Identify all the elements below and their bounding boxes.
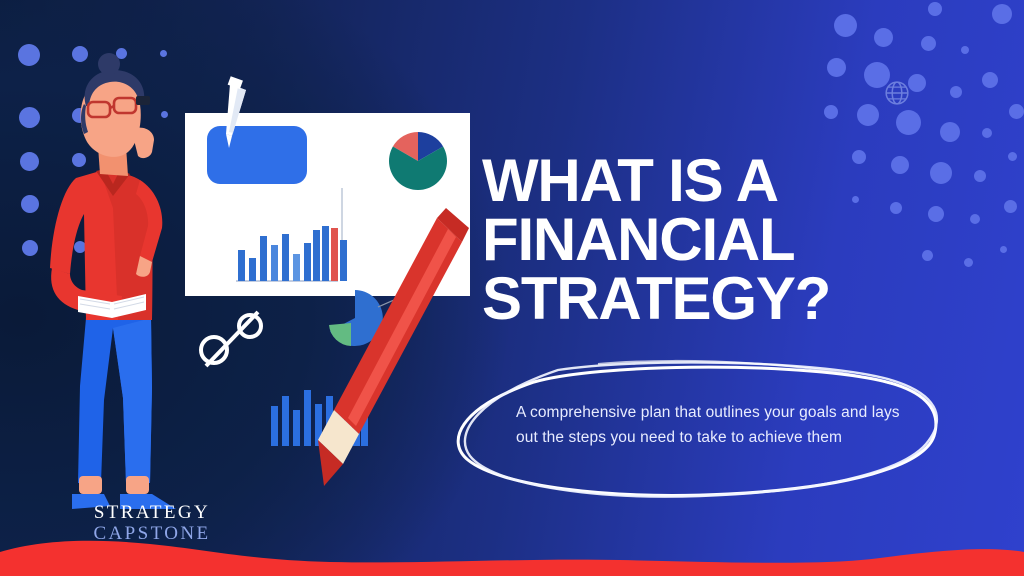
financial-strategy-illustration — [0, 28, 470, 548]
subtitle-text: A comprehensive plan that outlines your … — [516, 400, 906, 450]
person-illustration — [50, 53, 176, 509]
board-pie-chart-top — [389, 132, 447, 190]
title-line-1: WHAT IS A — [482, 152, 982, 211]
title-line-2: FINANCIAL — [482, 211, 982, 270]
bottom-red-wave — [0, 532, 1024, 576]
logo-line-strategy: STRATEGY — [62, 503, 242, 523]
percent-symbol — [201, 312, 261, 366]
globe-icon — [884, 80, 910, 106]
title-line-3: STRATEGY? — [482, 270, 982, 329]
slide-canvas: WHAT IS A FINANCIAL STRATEGY? A comprehe… — [0, 0, 1024, 576]
board-blue-block — [207, 126, 307, 184]
page-title: WHAT IS A FINANCIAL STRATEGY? — [482, 152, 982, 328]
